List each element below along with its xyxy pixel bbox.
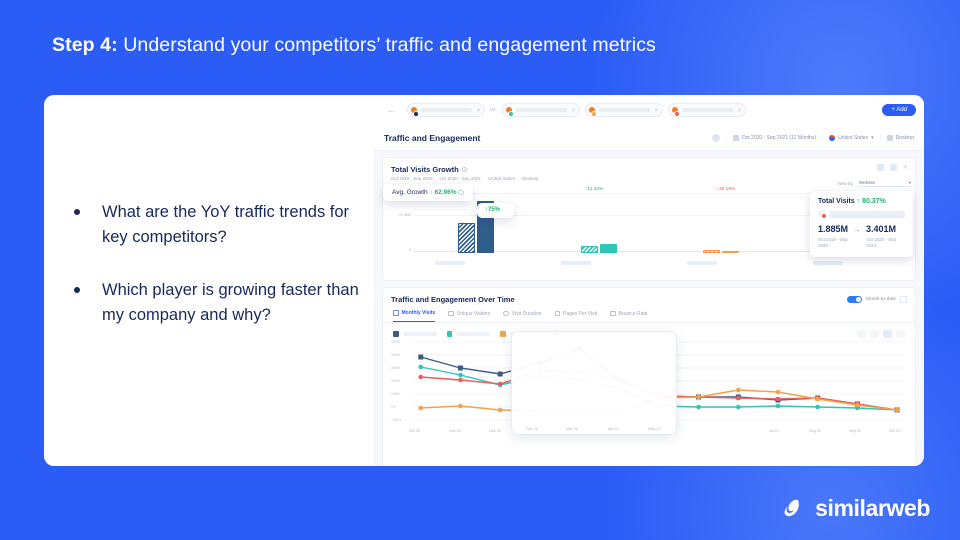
bar-group[interactable] [581,244,617,253]
value-current: 3.401M [866,224,896,234]
panel-title-text: Traffic and Engagement Over Time [391,295,515,304]
page-title-text: Understand your competitors’ traffic and… [118,34,656,56]
chevron-down-icon: ▾ [909,180,911,186]
add-competitor-button[interactable]: + Add [882,104,916,116]
panel-subtitle: Oct 2019 - Sep 2020 Oct 2020 - Sep 2021 … [383,174,915,181]
panel-title-text: Total Visits Growth [391,165,459,174]
users-icon [448,311,454,317]
x-tick: Nov 20 [449,429,461,433]
y-tick: 200% [391,379,400,383]
sub-device: Desktop [522,176,539,181]
info-icon[interactable] [458,190,464,196]
favicon-icon [506,107,512,113]
help-icon[interactable] [712,134,720,142]
tab-label: Pages Per Visit [563,311,597,317]
favicon-icon [818,210,826,218]
section-title: Traffic and Engagement [384,133,480,143]
y-tick: 20.00M [399,213,411,217]
x-tick: Dec 20 [489,429,501,433]
panel-header: Traffic and Engagement Over Time Month-t… [383,288,915,304]
legend-swatch [447,331,453,337]
y-tick: 0% [391,405,396,409]
country-label: United States [838,135,868,141]
x-label-redacted [435,261,465,265]
line-chart-icon[interactable] [857,330,866,338]
tab-label: Bounce Rate [619,311,648,317]
avg-growth-value: ↑ 62.96% [429,189,456,196]
legend-item[interactable] [393,331,437,337]
panel-actions: + [877,164,908,171]
domain-name-redacted [830,211,905,218]
panel-title: Total Visits Growth i [383,158,915,174]
y-tick: 100% [391,392,400,396]
slide-card: What are the YoY traffic trends for key … [44,95,924,466]
trend-icon [610,311,616,317]
tab-bounce-rate[interactable]: Bounce Rate [610,310,647,322]
tooltip-periods: Oct 2019 - Sep 2020 Oct 2020 - Sep 2021 [818,237,905,249]
total-visits-tooltip: Total Visits ↑ 80.37% 1.885M → 3.401M Oc… [810,191,913,257]
bullet-text: What are the YoY traffic trends for key … [102,200,374,250]
flag-icon [829,135,835,141]
monthly-visits-line-chart: 500% 400% 300% 200% 100% 0% -100% [391,340,907,432]
traffic-over-time-panel: Traffic and Engagement Over Time Month-t… [382,287,916,466]
clock-icon [503,311,509,317]
bar-current[interactable] [722,251,739,253]
sub-range-a: Oct 2019 - Sep 2020 [391,176,433,181]
y-tick: -100% [391,418,401,422]
x-label-redacted [813,261,843,265]
x-tick: Apr 21 [608,427,619,431]
area-chart-icon[interactable] [883,330,892,338]
tab-label: Unique Visitors [457,311,491,317]
month-to-date-control[interactable]: Month-to-date [847,296,907,304]
table-view-icon[interactable] [877,164,884,171]
date-range-filter[interactable]: Oct 2020 - Sep 2021 (12 Months) [726,135,816,141]
header-filters: Oct 2020 - Sep 2021 (12 Months) United S… [712,134,914,142]
date-range-label: Oct 2020 - Sep 2021 (12 Months) [742,135,816,141]
favicon-icon [672,107,678,113]
download-icon[interactable] [900,296,907,303]
chart-zoom-overlay[interactable]: Feb 21 Mar 21 Apr 21 May 21 [511,331,677,435]
tooltip-header: Total Visits ↑ 80.37% [818,198,905,205]
bullet-text: Which player is growing faster than my c… [102,278,374,328]
period-current: Oct 2020 - Sep 2021 [867,237,906,249]
domain-name-redacted [599,108,650,112]
x-tick: Feb 21 [526,427,538,431]
chart-tool-buttons [857,330,905,338]
bullet-dot-icon [74,287,80,293]
competitor-nav-bar: ← ✕ vs. ✕ ✕ ✕ + Add [374,95,924,125]
bar-previous[interactable] [703,250,720,253]
x-label-redacted [687,261,717,265]
add-icon[interactable]: + [903,164,908,171]
total-visits-growth-panel: Total Visits Growth i Oct 2019 - Sep 202… [382,157,916,281]
country-filter[interactable]: United States ▾ [822,135,874,141]
view-by-label: View by: [837,181,854,186]
legend-item[interactable] [447,331,491,337]
avg-growth-tooltip: Avg. Growth ↑ 62.96% [383,184,473,201]
page-header: Traffic and Engagement Oct 2020 - Sep 20… [374,125,924,151]
x-tick: Oct 21 [889,429,900,433]
tab-label: Visit Duration [512,311,542,317]
value-previous: 1.885M [818,224,848,234]
y-tick: 400% [391,353,400,357]
domain-chip-3[interactable]: ✕ [585,103,663,117]
close-icon[interactable]: ✕ [476,107,481,114]
download-icon[interactable] [890,164,897,171]
y-tick: 0 [409,248,411,252]
month-to-date-label: Month-to-date [866,297,896,302]
domain-chip-2[interactable]: ✕ [502,103,580,117]
calendar-icon [733,135,739,141]
back-arrow-icon[interactable]: ← [382,105,402,116]
vs-label: vs. [490,107,497,113]
x-tick: Sep 21 [849,429,861,433]
favicon-icon [589,107,595,113]
tab-label: Monthly Visits [402,310,436,316]
y-tick: 300% [391,366,400,370]
view-by-control[interactable]: View by: Website▾ [837,180,911,187]
domain-chip-4[interactable]: ✕ [668,103,746,117]
y-tick: 500% [391,340,400,344]
favicon-icon [411,107,417,113]
desktop-icon [887,135,893,141]
similarweb-logo: similarweb [783,495,930,522]
period-previous: Oct 2019 - Sep 2020 [818,237,857,249]
x-label-redacted [561,261,591,265]
similarweb-mark-icon [783,497,806,520]
bar-previous[interactable] [581,246,598,253]
legend-swatch [393,331,399,337]
page-title-step: Step 4: [52,34,118,56]
x-tick: Mar 21 [566,427,578,431]
tooltip-domain-row [818,210,905,218]
tab-unique-visitors[interactable]: Unique Visitors [448,310,490,322]
bullet-dot-icon [74,209,80,215]
bullet-list: What are the YoY traffic trends for key … [74,200,374,356]
bar-previous[interactable] [458,223,475,253]
tooltip-values: 1.885M → 3.401M [818,224,905,234]
device-filter[interactable]: Desktop [880,135,914,141]
similarweb-wordmark: similarweb [815,495,930,522]
pages-icon [555,311,561,317]
total-visits-label: Total Visits [818,198,855,205]
domain-name-redacted [421,108,472,112]
legend-label-redacted [456,332,490,336]
x-tick: May 21 [648,427,660,431]
x-tick: Jul 21 [769,429,779,433]
info-icon[interactable]: i [462,167,468,173]
domain-chip-1[interactable]: ✕ [407,103,485,117]
tab-visit-duration[interactable]: Visit Duration [503,310,541,322]
chevron-down-icon: ▾ [871,135,874,141]
bar-current[interactable] [600,244,617,253]
tab-monthly-visits[interactable]: Monthly Visits [393,310,435,322]
bar-chart-icon[interactable] [870,330,879,338]
list-item: Which player is growing faster than my c… [74,278,374,328]
sub-range-b: Oct 2020 - Sep 2021 [440,176,482,181]
close-icon[interactable]: ✕ [654,107,659,114]
tab-pages-per-visit[interactable]: Pages Per Visit [555,310,598,322]
bar-growth-tooltip: ↑75% [477,203,514,218]
avg-growth-label: Avg. Growth [392,189,428,196]
view-by-value: Website [859,180,875,186]
domain-name-redacted [682,108,733,112]
domain-name-redacted [516,108,567,112]
legend-label-redacted [403,332,437,336]
metric-tabs: Monthly Visits Unique Visitors Visit Dur… [383,304,915,323]
download-icon[interactable] [896,330,905,338]
total-visits-change: ↑ 80.37% [857,198,886,205]
product-screenshot: ← ✕ vs. ✕ ✕ ✕ + Add [374,95,924,466]
calendar-icon [393,310,399,316]
close-icon[interactable]: ✕ [571,107,576,114]
arrow-right-icon: → [853,225,861,234]
month-to-date-toggle[interactable] [847,296,862,304]
page-title: Step 4: Understand your competitors’ tra… [52,34,656,57]
list-item: What are the YoY traffic trends for key … [74,200,374,250]
close-icon[interactable]: ✕ [737,107,742,114]
x-tick: Aug 21 [809,429,821,433]
bar-group[interactable] [703,250,739,253]
device-label: Desktop [896,135,914,141]
legend-swatch [500,331,506,337]
sub-country: United States [488,176,515,181]
x-tick: Oct 20 [409,429,420,433]
